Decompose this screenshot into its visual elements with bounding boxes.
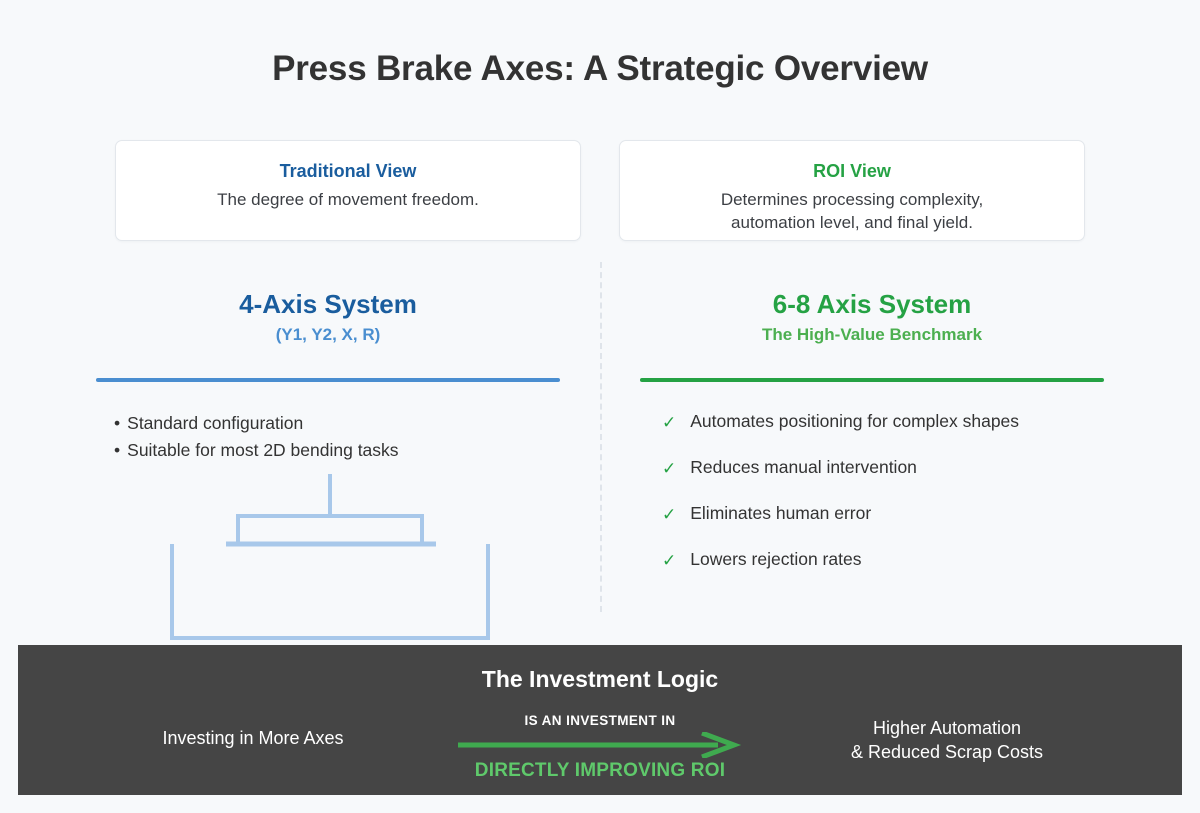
check-icon: ✓ bbox=[662, 414, 676, 431]
page-title: Press Brake Axes: A Strategic Overview bbox=[0, 49, 1200, 89]
left-column-heading: 4-Axis System bbox=[96, 290, 560, 319]
press-brake-schematic-icon bbox=[150, 470, 510, 645]
list-item-label: Eliminates human error bbox=[690, 503, 871, 524]
investment-logic-panel: The Investment Logic Investing in More A… bbox=[18, 645, 1182, 795]
list-item-label: Reduces manual intervention bbox=[690, 457, 917, 478]
list-item-label: Lowers rejection rates bbox=[690, 549, 861, 570]
roi-view-body-line2: automation level, and final yield. bbox=[620, 212, 1084, 235]
investment-flow: Investing in More Axes IS AN INVESTMENT … bbox=[18, 713, 1182, 793]
bullet-dot-icon: • bbox=[114, 413, 120, 433]
flow-target-line1: Higher Automation bbox=[752, 716, 1142, 740]
list-item: ✓ Eliminates human error bbox=[640, 503, 1104, 524]
check-icon: ✓ bbox=[662, 506, 676, 523]
list-item: ✓ Reduces manual intervention bbox=[640, 457, 1104, 478]
flow-target-label: Higher Automation & Reduced Scrap Costs bbox=[752, 716, 1142, 765]
list-item: •Suitable for most 2D bending tasks bbox=[114, 437, 560, 464]
roi-view-card: ROI View Determines processing complexit… bbox=[619, 140, 1085, 241]
list-item-label: Standard configuration bbox=[127, 413, 303, 433]
check-icon: ✓ bbox=[662, 460, 676, 477]
roi-view-body: Determines processing complexity, automa… bbox=[620, 189, 1084, 235]
check-icon: ✓ bbox=[662, 552, 676, 569]
list-item: ✓ Automates positioning for complex shap… bbox=[640, 411, 1104, 432]
column-divider bbox=[600, 262, 602, 612]
left-column-bullet-list: •Standard configuration •Suitable for mo… bbox=[96, 410, 560, 465]
infographic-page: Press Brake Axes: A Strategic Overview T… bbox=[0, 0, 1200, 813]
investment-logic-title: The Investment Logic bbox=[18, 666, 1182, 693]
traditional-view-title: Traditional View bbox=[116, 161, 580, 182]
right-column: 6-8 Axis System The High-Value Benchmark… bbox=[640, 290, 1104, 595]
flow-arrow-caption-top: IS AN INVESTMENT IN bbox=[450, 713, 750, 728]
right-column-rule bbox=[640, 378, 1104, 382]
list-item-label: Automates positioning for complex shapes bbox=[690, 411, 1019, 432]
list-item: ✓ Lowers rejection rates bbox=[640, 549, 1104, 570]
benefits-check-list: ✓ Automates positioning for complex shap… bbox=[640, 411, 1104, 570]
traditional-view-card: Traditional View The degree of movement … bbox=[115, 140, 581, 241]
left-column: 4-Axis System (Y1, Y2, X, R) •Standard c… bbox=[96, 290, 560, 464]
list-item-label: Suitable for most 2D bending tasks bbox=[127, 440, 398, 460]
bullet-dot-icon: • bbox=[114, 440, 120, 460]
flow-target-line2: & Reduced Scrap Costs bbox=[752, 740, 1142, 764]
flow-source-label: Investing in More Axes bbox=[58, 726, 448, 750]
left-column-rule bbox=[96, 378, 560, 382]
flow-arrow-group: IS AN INVESTMENT IN DIRECTLY IMPROVING R… bbox=[450, 713, 750, 782]
right-column-heading: 6-8 Axis System bbox=[640, 290, 1104, 319]
right-column-subheading: The High-Value Benchmark bbox=[640, 325, 1104, 345]
press-brake-diagram bbox=[150, 470, 510, 645]
arrow-right-icon bbox=[450, 732, 750, 758]
roi-view-body-line1: Determines processing complexity, bbox=[620, 189, 1084, 212]
flow-arrow-caption-bottom: DIRECTLY IMPROVING ROI bbox=[450, 760, 750, 782]
roi-view-title: ROI View bbox=[620, 161, 1084, 182]
left-column-subheading: (Y1, Y2, X, R) bbox=[96, 325, 560, 345]
traditional-view-body: The degree of movement freedom. bbox=[116, 189, 580, 212]
list-item: •Standard configuration bbox=[114, 410, 560, 437]
